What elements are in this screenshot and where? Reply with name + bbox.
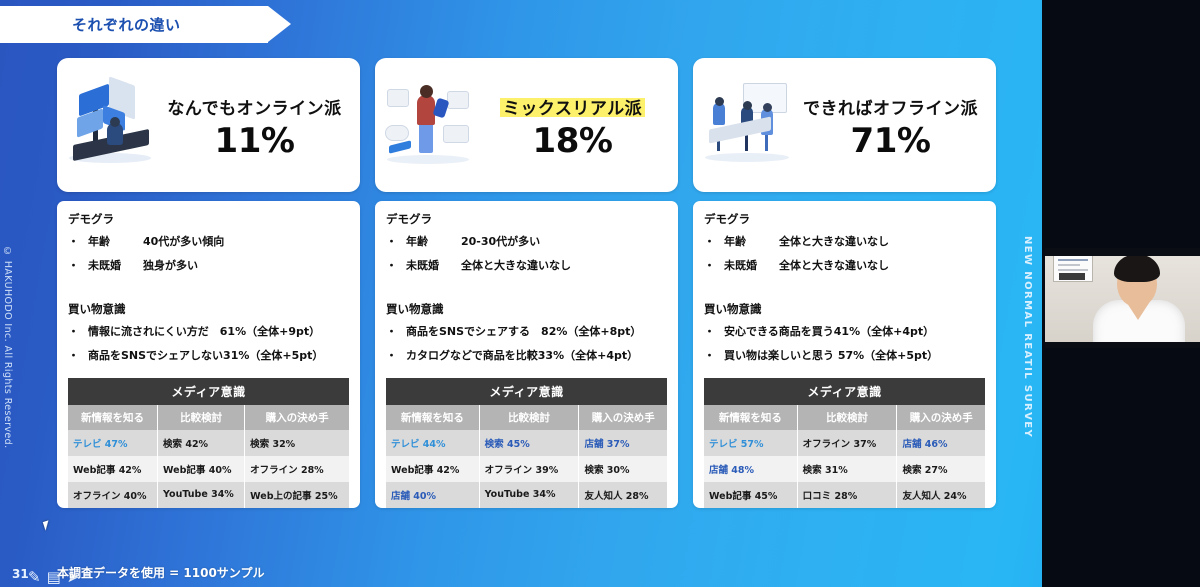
- table-header-row: 新情報を知る 比較検討 購入の決め手: [386, 405, 667, 430]
- webcam-letterbox-bottom: [1045, 342, 1200, 348]
- table-cell: 検索 27%: [897, 456, 985, 482]
- table-header-row: 新情報を知る 比較検討 購入の決め手: [704, 405, 985, 430]
- table-row: Web記事 42% Web記事 40% オフライン 28%: [68, 456, 349, 482]
- table-banner-row: メディア意識: [386, 378, 667, 405]
- pen-icon[interactable]: ✎: [28, 570, 41, 585]
- table-cell: Web上の記事 25%: [245, 482, 349, 508]
- media-awareness-table-2: メディア意識 新情報を知る 比較検討 購入の決め手 テレビ 44% 検索 45%…: [386, 378, 667, 508]
- table-cell: オフライン 40%: [68, 482, 158, 508]
- table-row: テレビ 44% 検索 45% 店舗 37%: [386, 430, 667, 456]
- table-cell: YouTube 34%: [158, 482, 245, 508]
- slide-page-number: 31: [12, 567, 29, 581]
- table-cell: オフライン 39%: [479, 456, 579, 482]
- list-item: ・買い物は楽しいと思う 57%（全体+5pt）: [704, 350, 985, 363]
- table-banner-row: メディア意識: [68, 378, 349, 405]
- demographics-heading-1: デモグラ: [68, 211, 349, 227]
- media-banner-2: メディア意識: [386, 378, 667, 405]
- demographics-heading-3: デモグラ: [704, 211, 985, 227]
- segment-column-2: ミックスリアル派 18% デモグラ ・年齢20-30代が多い ・未既婚全体と大き…: [375, 58, 678, 508]
- table-cell: 検索 32%: [245, 430, 349, 456]
- table-cell: 店舗 46%: [897, 430, 985, 456]
- table-cell: 友人知人 24%: [897, 482, 985, 508]
- section-title: それぞれの違い: [72, 14, 181, 35]
- table-row: Web記事 45% 口コミ 28% 友人知人 24%: [704, 482, 985, 508]
- list-item: ・年齢全体と大きな違いなし: [704, 236, 985, 249]
- segment-percent-3: 71%: [851, 124, 931, 158]
- table-row: オフライン 40% YouTube 34% Web上の記事 25%: [68, 482, 349, 508]
- list-item: ・カタログなどで商品を比較33%（全体+4pt）: [386, 350, 667, 363]
- shopping-heading-1: 買い物意識: [68, 301, 349, 317]
- wall-poster: [1053, 254, 1093, 282]
- media-awareness-table-1: メディア意識 新情報を知る 比較検討 購入の決め手 テレビ 47% 検索 42%…: [68, 378, 349, 508]
- segment-title-2: ミックスリアル派: [500, 93, 645, 120]
- table-cell: テレビ 47%: [68, 430, 158, 456]
- list-item: ・年齢40代が多い傾向: [68, 236, 349, 249]
- table-cell: YouTube 34%: [479, 482, 579, 508]
- table-row: Web記事 42% オフライン 39% 検索 30%: [386, 456, 667, 482]
- col-header-comparison: 比較検討: [158, 405, 245, 430]
- segment-detail-card-1: デモグラ ・年齢40代が多い傾向 ・未既婚独身が多い 買い物意識 ・情報に流され…: [57, 201, 360, 508]
- col-header-purchase: 購入の決め手: [579, 405, 667, 430]
- shopping-list-2: ・商品をSNSでシェアする 82%（全体+8pt） ・カタログなどで商品を比較3…: [386, 326, 667, 373]
- demographics-list-1: ・年齢40代が多い傾向 ・未既婚独身が多い: [68, 236, 349, 283]
- list-item: ・未既婚全体と大きな違いなし: [386, 260, 667, 273]
- online-workstation-illustration: [63, 77, 159, 173]
- table-cell: Web記事 42%: [386, 456, 479, 482]
- table-cell: オフライン 28%: [245, 456, 349, 482]
- table-cell: Web記事 45%: [704, 482, 797, 508]
- list-item: ・商品をSNSでシェアする 82%（全体+8pt）: [386, 326, 667, 339]
- col-header-purchase: 購入の決め手: [245, 405, 349, 430]
- table-header-row: 新情報を知る 比較検討 購入の決め手: [68, 405, 349, 430]
- shopping-list-1: ・情報に流されにくい方だ 61%（全体+9pt） ・商品をSNSでシェアしない3…: [68, 326, 349, 373]
- table-cell: 店舗 40%: [386, 482, 479, 508]
- section-ribbon: それぞれの違い: [0, 6, 268, 43]
- table-cell: Web記事 42%: [68, 456, 158, 482]
- list-item: ・商品をSNSでシェアしない31%（全体+5pt）: [68, 350, 349, 363]
- media-awareness-table-3: メディア意識 新情報を知る 比較検討 購入の決め手 テレビ 57% オフライン …: [704, 378, 985, 508]
- presenter-webcam-feed[interactable]: [1045, 248, 1200, 348]
- col-header-comparison: 比較検討: [797, 405, 897, 430]
- col-header-new-info: 新情報を知る: [386, 405, 479, 430]
- sample-size-note: 本調査データを使用 = 1100サンプル: [57, 564, 264, 581]
- segment-detail-card-2: デモグラ ・年齢20-30代が多い ・未既婚全体と大きな違いなし 買い物意識 ・…: [375, 201, 678, 508]
- media-banner-3: メディア意識: [704, 378, 985, 405]
- table-banner-row: メディア意識: [704, 378, 985, 405]
- survey-vertical-label: NEW NORMAL REATIL SURVEY: [1022, 236, 1033, 438]
- list-item: ・未既婚全体と大きな違いなし: [704, 260, 985, 273]
- copyright-vertical-label: © HAKUHODO Inc. All Rights Reserved.: [2, 246, 13, 449]
- table-cell: 口コミ 28%: [797, 482, 897, 508]
- segment-summary-card-1: なんでもオンライン派 11%: [57, 58, 360, 192]
- segment-percent-2: 18%: [533, 124, 613, 158]
- list-item: ・安心できる商品を買う41%（全体+4pt）: [704, 326, 985, 339]
- segment-detail-card-3: デモグラ ・年齢全体と大きな違いなし ・未既婚全体と大きな違いなし 買い物意識 …: [693, 201, 996, 508]
- table-cell: Web記事 40%: [158, 456, 245, 482]
- segment-percent-1: 11%: [215, 124, 295, 158]
- shopping-list-3: ・安心できる商品を買う41%（全体+4pt） ・買い物は楽しいと思う 57%（全…: [704, 326, 985, 373]
- col-header-comparison: 比較検討: [479, 405, 579, 430]
- media-banner-1: メディア意識: [68, 378, 349, 405]
- list-item: ・情報に流されにくい方だ 61%（全体+9pt）: [68, 326, 349, 339]
- list-item: ・未既婚独身が多い: [68, 260, 349, 273]
- table-cell: 店舗 37%: [579, 430, 667, 456]
- person-shopping-channels-illustration: [381, 77, 477, 173]
- segment-title-3: できればオフライン派: [800, 93, 981, 120]
- shopping-heading-3: 買い物意識: [704, 301, 985, 317]
- demographics-heading-2: デモグラ: [386, 211, 667, 227]
- segment-summary-card-2: ミックスリアル派 18%: [375, 58, 678, 192]
- store-counter-illustration: [699, 77, 795, 173]
- table-cell: 検索 42%: [158, 430, 245, 456]
- segment-column-3: できればオフライン派 71% デモグラ ・年齢全体と大きな違いなし ・未既婚全体…: [693, 58, 996, 508]
- slide-screen: それぞれの違い © HAKUHODO Inc. All Rights Reser…: [0, 0, 1200, 587]
- table-row: 店舗 40% YouTube 34% 友人知人 28%: [386, 482, 667, 508]
- mouse-cursor: [43, 520, 51, 530]
- table-cell: 検索 45%: [479, 430, 579, 456]
- table-cell: オフライン 37%: [797, 430, 897, 456]
- table-row: 店舗 48% 検索 31% 検索 27%: [704, 456, 985, 482]
- table-cell: 友人知人 28%: [579, 482, 667, 508]
- table-cell: 検索 30%: [579, 456, 667, 482]
- col-header-new-info: 新情報を知る: [704, 405, 797, 430]
- table-cell: 検索 31%: [797, 456, 897, 482]
- col-header-purchase: 購入の決め手: [897, 405, 985, 430]
- segment-title-1: なんでもオンライン派: [164, 93, 344, 120]
- segment-column-1: なんでもオンライン派 11% デモグラ ・年齢40代が多い傾向 ・未既婚独身が多…: [57, 58, 360, 508]
- col-header-new-info: 新情報を知る: [68, 405, 158, 430]
- ribbon-arrow-icon: [268, 6, 291, 42]
- table-cell: 店舗 48%: [704, 456, 797, 482]
- table-cell: テレビ 57%: [704, 430, 797, 456]
- demographics-list-2: ・年齢20-30代が多い ・未既婚全体と大きな違いなし: [386, 236, 667, 283]
- table-cell: テレビ 44%: [386, 430, 479, 456]
- table-row: テレビ 47% 検索 42% 検索 32%: [68, 430, 349, 456]
- shopping-heading-2: 買い物意識: [386, 301, 667, 317]
- segment-summary-card-3: できればオフライン派 71%: [693, 58, 996, 192]
- demographics-list-3: ・年齢全体と大きな違いなし ・未既婚全体と大きな違いなし: [704, 236, 985, 283]
- webcam-letterbox-top: [1045, 248, 1200, 256]
- list-item: ・年齢20-30代が多い: [386, 236, 667, 249]
- table-row: テレビ 57% オフライン 37% 店舗 46%: [704, 430, 985, 456]
- segment-columns: なんでもオンライン派 11% デモグラ ・年齢40代が多い傾向 ・未既婚独身が多…: [57, 58, 997, 508]
